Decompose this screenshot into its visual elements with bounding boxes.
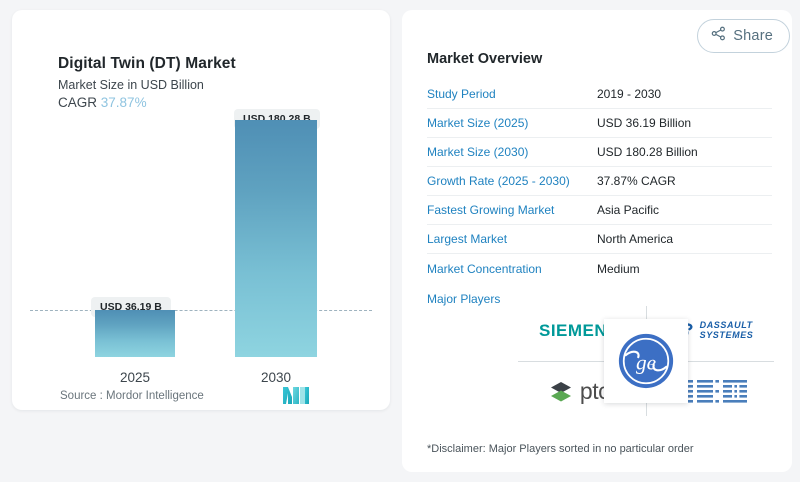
row-value: North America [597,232,772,246]
row-label: Fastest Growing Market [427,203,597,217]
overview-table: Study Period 2019 - 2030 Market Size (20… [427,80,772,283]
dassault-line-2: SYSTEMES [700,331,754,340]
row-label: Market Concentration [427,262,597,276]
x-axis-label-2030: 2030 [235,370,317,385]
table-row: Market Size (2030) USD 180.28 Billion [427,138,772,167]
share-button-label: Share [733,28,773,44]
ge-logo: ge [615,330,677,392]
table-row: Growth Rate (2025 - 2030) 37.87% CAGR [427,167,772,196]
bar-chart-plot: USD 36.19 B 2025 USD 180.28 B 2030 [12,10,390,410]
bar-2030[interactable] [235,120,317,357]
table-row: Market Size (2025) USD 36.19 Billion [427,109,772,138]
row-label: Market Size (2025) [427,116,597,130]
mordor-intelligence-logo [283,387,309,409]
source-text: Source : Mordor Intelligence [60,390,204,402]
ptc-logo: ptc [549,378,609,405]
table-row: Largest Market North America [427,225,772,254]
row-label: Study Period [427,87,597,101]
row-value: Asia Pacific [597,203,772,217]
svg-text:ge: ge [636,351,656,375]
table-row: Study Period 2019 - 2030 [427,80,772,109]
screenshot-root: Digital Twin (DT) Market Market Size in … [0,0,800,482]
row-value: 2019 - 2030 [597,87,772,101]
logo-cell-ge: ge [604,319,688,403]
share-button[interactable]: Share [697,19,790,53]
x-axis-label-2025: 2025 [95,370,175,385]
major-players-label: Major Players [427,292,500,306]
row-label: Growth Rate (2025 - 2030) [427,174,597,188]
reference-line [30,310,372,311]
ptc-hexagon-icon [549,380,573,404]
row-value: 37.87% CAGR [597,174,772,188]
share-network-icon [711,26,726,46]
bar-2025[interactable] [95,310,175,357]
overview-heading: Market Overview [427,51,542,67]
row-label: Largest Market [427,232,597,246]
row-value: USD 180.28 Billion [597,145,772,159]
major-players-logos: SIEMENS DASSAULT SYSTEMES [512,300,780,422]
row-label: Market Size (2030) [427,145,597,159]
row-value: Medium [597,262,772,276]
table-row: Fastest Growing Market Asia Pacific [427,196,772,225]
row-value: USD 36.19 Billion [597,116,772,130]
table-row: Market Concentration Medium [427,254,772,283]
disclaimer-text: *Disclaimer: Major Players sorted in no … [427,443,694,455]
